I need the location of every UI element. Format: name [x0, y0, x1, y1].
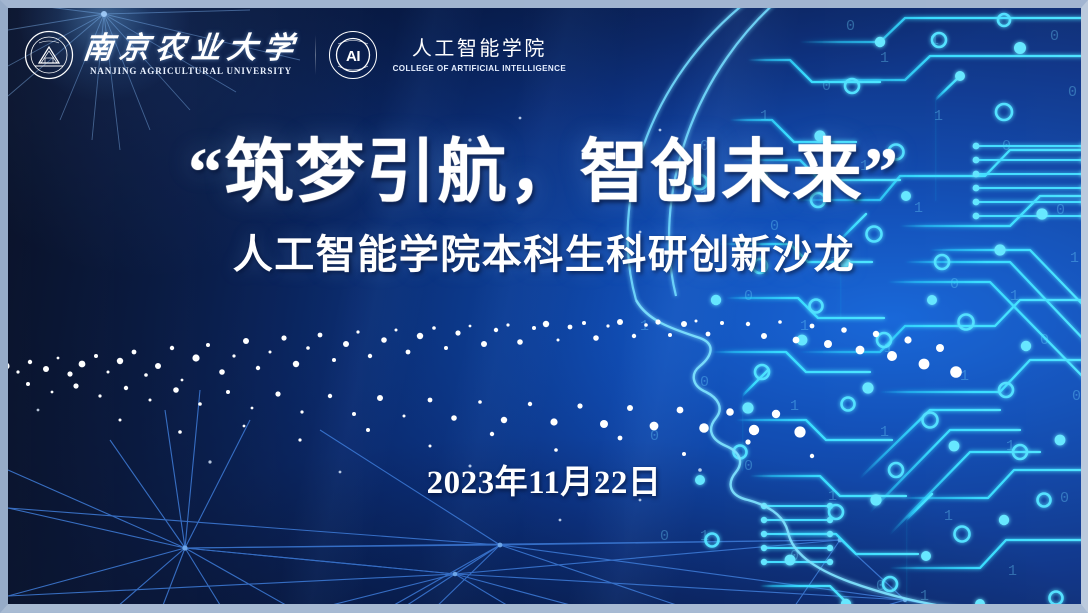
svg-text:0: 0 — [1040, 332, 1049, 349]
svg-text:1: 1 — [880, 50, 889, 67]
svg-text:1: 1 — [700, 528, 709, 545]
njau-seal-icon — [24, 30, 74, 80]
svg-text:1: 1 — [640, 318, 649, 335]
svg-text:1: 1 — [884, 340, 893, 357]
ai-college-wordmark: 人工智能学院 COLLEGE OF ARTIFICIAL INTELLIGENC… — [388, 38, 571, 73]
college-name-cn: 人工智能学院 — [412, 38, 547, 60]
svg-text:0: 0 — [1060, 490, 1069, 507]
svg-text:1: 1 — [760, 108, 769, 125]
background-vignette — [0, 0, 1088, 613]
svg-text:1: 1 — [828, 488, 837, 505]
presentation-poster: 010 100 101 011 010 110 101 101 010 110 … — [0, 0, 1088, 613]
ai-college-seal-icon: AI — [328, 30, 378, 80]
college-name-en: COLLEGE OF ARTIFICIAL INTELLIGENCE — [393, 63, 567, 73]
svg-text:0: 0 — [650, 428, 659, 445]
svg-text:0: 0 — [1050, 28, 1059, 45]
svg-text:1: 1 — [880, 424, 889, 441]
polygon-mesh-network — [0, 0, 1088, 613]
svg-text:0: 0 — [876, 578, 885, 595]
title-block: “筑梦引航，智创未来” 人工智能学院本科生科研创新沙龙 — [0, 138, 1088, 275]
background-gradient — [0, 0, 1088, 613]
svg-text:1: 1 — [930, 32, 939, 49]
svg-text:1: 1 — [700, 188, 709, 205]
svg-text:0: 0 — [700, 374, 709, 391]
svg-text:0: 0 — [744, 288, 753, 305]
svg-text:1: 1 — [800, 318, 809, 335]
svg-text:0: 0 — [770, 218, 779, 235]
circuit-board-pattern: 010 100 101 011 010 110 101 101 010 110 … — [0, 0, 1088, 613]
svg-text:AI: AI — [346, 48, 360, 65]
svg-text:0: 0 — [950, 276, 959, 293]
svg-text:1: 1 — [944, 508, 953, 525]
svg-text:1: 1 — [960, 368, 969, 385]
svg-text:1: 1 — [790, 398, 799, 415]
svg-text:0: 0 — [744, 458, 753, 475]
logo-divider — [315, 35, 316, 75]
particle-dot-stream — [0, 0, 1088, 613]
svg-text:0: 0 — [790, 548, 799, 565]
svg-text:1: 1 — [1006, 438, 1015, 455]
svg-text:0: 0 — [1068, 84, 1077, 101]
svg-text:1: 1 — [934, 108, 943, 125]
background-light-streaks — [0, 0, 1088, 613]
event-date: 2023年11月22日 — [0, 455, 1088, 503]
page-subtitle: 人工智能学院本科生科研创新沙龙 — [0, 235, 1088, 275]
svg-text:1: 1 — [920, 588, 929, 605]
njau-wordmark: 南京农业大学 NANJING AGRICULTURAL UNIVERSITY — [83, 34, 299, 77]
svg-text:0: 0 — [660, 528, 669, 545]
starburst-rays — [0, 0, 1088, 613]
svg-text:1: 1 — [1010, 288, 1019, 305]
university-name-cn: 南京农业大学 — [81, 34, 300, 65]
starburst-glow — [0, 0, 1088, 613]
page-title: “筑梦引航，智创未来” — [0, 138, 1088, 207]
svg-text:1: 1 — [1070, 250, 1079, 267]
svg-text:1: 1 — [1008, 563, 1017, 580]
svg-text:1: 1 — [860, 158, 869, 175]
svg-text:0: 0 — [1002, 138, 1011, 155]
svg-text:1: 1 — [914, 200, 923, 217]
svg-text:0: 0 — [1056, 202, 1065, 219]
university-name-en: NANJING AGRICULTURAL UNIVERSITY — [90, 66, 292, 76]
institution-logo-lockup: 南京农业大学 NANJING AGRICULTURAL UNIVERSITY A… — [24, 22, 571, 88]
poster-frame-border — [0, 0, 1088, 613]
svg-text:1: 1 — [830, 246, 839, 263]
svg-text:0: 0 — [846, 18, 855, 35]
svg-text:0: 0 — [700, 138, 709, 155]
svg-text:0: 0 — [822, 78, 831, 95]
svg-text:0: 0 — [1072, 388, 1081, 405]
